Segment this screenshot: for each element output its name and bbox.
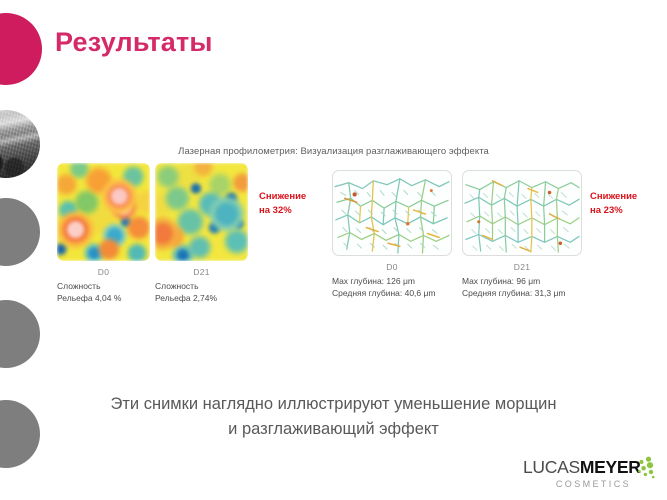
figure-stats-d21: Max глубина: 96 μm Средняя глубина: 31,3… xyxy=(462,275,582,300)
stat-line: Рельефа 4,04 % xyxy=(57,292,150,304)
photo-circle xyxy=(0,110,40,178)
stat-line: Max глубина: 96 μm xyxy=(462,275,582,287)
figure-stats-d0: Сложность Рельефа 4,04 % xyxy=(57,280,150,305)
conclusion-line-2: и разглаживающий эффект xyxy=(0,417,667,442)
roughness-heatmap-group: D0 Сложность Рельефа 4,04 % D21 Сложност… xyxy=(57,163,248,305)
figure-caption: Лазерная профилометрия: Визуализация раз… xyxy=(0,146,667,157)
reduction-line-1: Снижение xyxy=(590,190,637,204)
stat-line: Сложность xyxy=(57,280,150,292)
reduction-line-2: на 32% xyxy=(259,204,306,218)
heatmap-image-d0 xyxy=(57,163,150,261)
figure-stats-d0: Max глубина: 126 μm Средняя глубина: 40,… xyxy=(332,275,452,300)
gray-circle-1 xyxy=(0,198,40,266)
figure-panel-d21-heatmap: D21 Сложность Рельефа 2,74% xyxy=(155,163,248,305)
logo-word-lucas: LUCAS xyxy=(523,457,580,477)
linemap-image-d21 xyxy=(462,170,582,256)
leaf-dots-icon xyxy=(631,456,655,480)
figure-panel-d0-linemap: D0 Max глубина: 126 μm Средняя глубина: … xyxy=(332,170,452,300)
magenta-circle xyxy=(0,13,42,85)
stat-line: Средняя глубина: 40,6 μm xyxy=(332,287,452,299)
figure-label-d21: D21 xyxy=(462,262,582,272)
reduction-line-1: Снижение xyxy=(259,190,306,204)
reduction-callout-23: Снижение на 23% xyxy=(590,190,637,218)
conclusion-text: Эти снимки наглядно иллюстрируют уменьше… xyxy=(0,392,667,442)
figure-panel-d0-heatmap: D0 Сложность Рельефа 4,04 % xyxy=(57,163,150,305)
gray-circle-2 xyxy=(0,300,40,368)
figure-label-d0: D0 xyxy=(57,267,150,277)
brand-logo: LUCASMEYER COSMETICS xyxy=(523,459,653,491)
heatmap-image-d21 xyxy=(155,163,248,261)
reduction-line-2: на 23% xyxy=(590,204,637,218)
figure-stats-d21: Сложность Рельефа 2,74% xyxy=(155,280,248,305)
linemap-image-d0 xyxy=(332,170,452,256)
wrinkle-linemap-group: D0 Max глубина: 126 μm Средняя глубина: … xyxy=(332,170,582,300)
reduction-callout-32: Снижение на 32% xyxy=(259,190,306,218)
stat-line: Max глубина: 126 μm xyxy=(332,275,452,287)
figure-label-d0: D0 xyxy=(332,262,452,272)
stat-line: Сложность xyxy=(155,280,248,292)
figure-label-d21: D21 xyxy=(155,267,248,277)
slide-root: Результаты Лазерная профилометрия: Визуа… xyxy=(0,0,667,500)
conclusion-line-1: Эти снимки наглядно иллюстрируют уменьше… xyxy=(0,392,667,417)
stat-line: Рельефа 2,74% xyxy=(155,292,248,304)
stat-line: Средняя глубина: 31,3 μm xyxy=(462,287,582,299)
figure-panel-d21-linemap: D21 Max глубина: 96 μm Средняя глубина: … xyxy=(462,170,582,300)
page-title: Результаты xyxy=(55,27,213,58)
